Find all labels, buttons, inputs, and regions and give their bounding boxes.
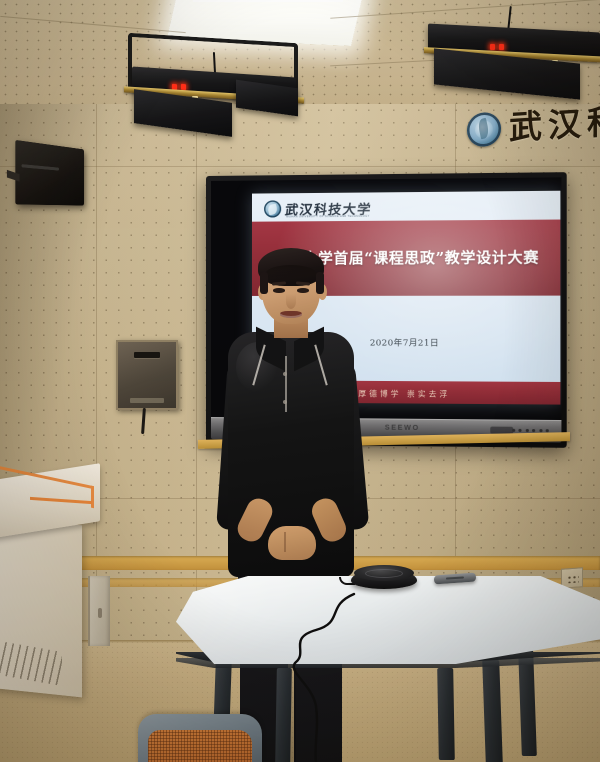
- lectern-door-handle[interactable]: [98, 608, 102, 618]
- lectern[interactable]: [0, 472, 100, 688]
- table-leg: [518, 650, 537, 756]
- presenter-sideburn-right: [316, 272, 324, 294]
- presenter-nose: [286, 294, 296, 309]
- table-leg: [275, 668, 292, 762]
- presenter-shirt-button: [283, 372, 287, 376]
- display-button[interactable]: [518, 429, 521, 432]
- table-leg: [482, 660, 503, 762]
- office-chair[interactable]: [138, 700, 274, 762]
- presenter-mouth: [280, 311, 302, 318]
- slide-logo-subtext: WUHAN UNIVERSITY OF SCIENCE AND TECHNOLO…: [286, 215, 369, 219]
- ceiling-light-panel-2: [193, 0, 349, 2]
- lecture-hall-photo: 武汉科: [0, 0, 600, 762]
- conference-speakerphone[interactable]: [351, 565, 417, 591]
- wust-university-emblem-icon: [467, 112, 501, 148]
- university-wall-sign-text: 武汉科: [509, 97, 600, 154]
- table-leg: [437, 668, 455, 760]
- display-button[interactable]: [512, 429, 515, 432]
- light-led-right-a: [490, 44, 495, 50]
- university-wall-sign: 武汉科: [455, 92, 600, 162]
- wall-control-box[interactable]: [116, 340, 178, 410]
- light-led-right-b: [499, 44, 504, 50]
- lectern-vent-slots: [0, 638, 62, 686]
- wall-seam: [0, 166, 600, 167]
- presenter-hands: [268, 526, 316, 560]
- control-box-slot: [134, 352, 160, 358]
- chair-mesh-seat: [148, 730, 252, 762]
- control-box-label: [130, 398, 164, 403]
- display-brand-label: SEEWO: [385, 425, 420, 432]
- display-button[interactable]: [525, 429, 528, 432]
- presenter-eye-left: [273, 288, 285, 293]
- speakerphone-ring: [365, 569, 403, 578]
- wall-speaker: [15, 140, 84, 206]
- presenter-shirt-button: [283, 400, 287, 404]
- display-button[interactable]: [532, 429, 535, 432]
- presenter-sideburn-left: [260, 272, 268, 294]
- presenter-eye-right: [297, 288, 309, 293]
- lectern-body: [0, 515, 82, 698]
- wust-emblem-icon: [264, 200, 281, 217]
